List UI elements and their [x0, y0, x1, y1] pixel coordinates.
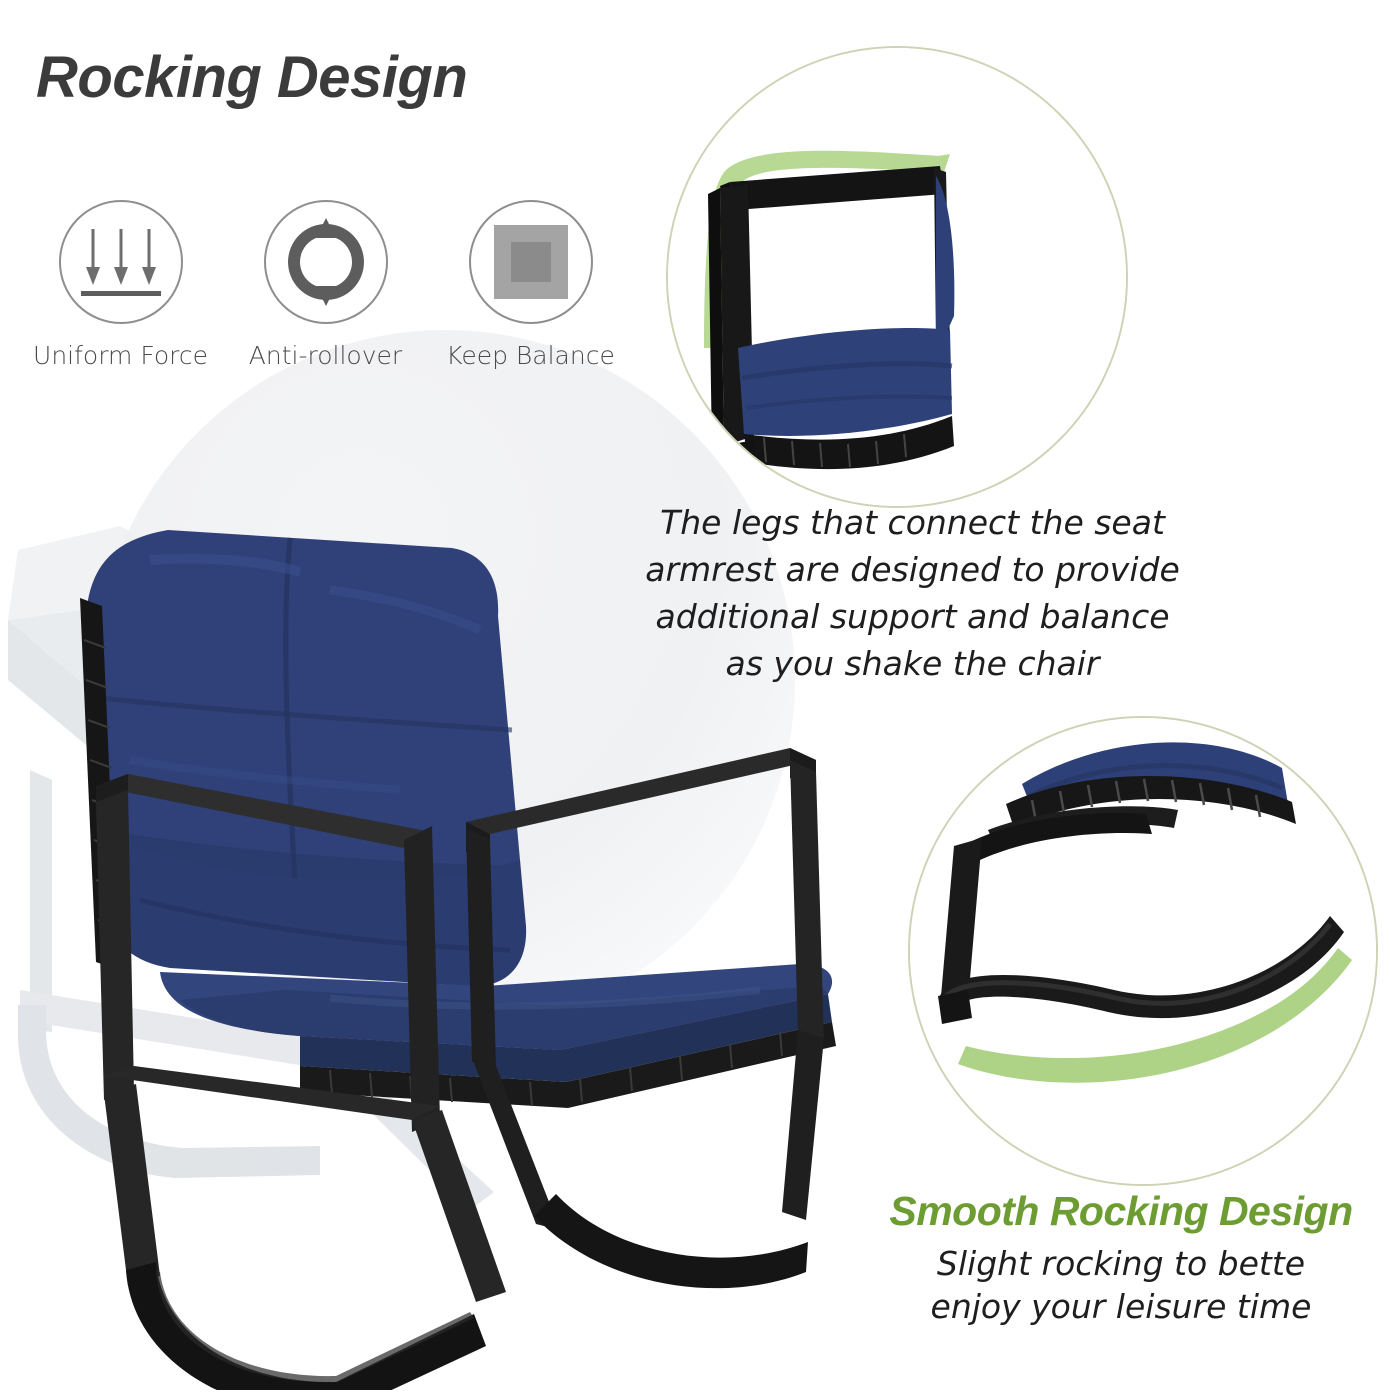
lead-text-line: as you shake the chair [630, 641, 1195, 688]
rocker-base-front [104, 1084, 506, 1390]
armrest-leg-detail-inset [666, 46, 1128, 508]
armrest-leg-detail-graphic [668, 48, 1126, 506]
lead-text-line: additional support and balance [630, 594, 1195, 641]
promo-subtext-line: Slight rocking to bette [846, 1243, 1396, 1286]
feature-icon-row: Uniform Force Anti-rollover [18, 200, 633, 370]
feature-label: Anti-rollover [249, 341, 402, 370]
promo-title: Smooth Rocking Design [846, 1188, 1396, 1235]
feature-uniform-force: Uniform Force [18, 200, 223, 370]
feature-keep-balance: Keep Balance [428, 200, 633, 370]
circular-rotation-arrows-icon [280, 216, 372, 308]
downward-arrows-on-bar-icon [76, 219, 166, 305]
page-title: Rocking Design [36, 44, 467, 111]
lead-text-line: armrest are designed to provide [630, 547, 1195, 594]
promo-subtext-line: enjoy your leisure time [846, 1286, 1396, 1329]
feature-label: Uniform Force [33, 341, 208, 370]
rocker-base-detail-inset [908, 716, 1378, 1186]
feature-circle [264, 200, 388, 324]
feature-circle [469, 200, 593, 324]
lead-text-line: The legs that connect the seat [630, 500, 1195, 547]
infographic-canvas: Rocking Design U [0, 0, 1396, 1396]
promo-block: Smooth Rocking Design Slight rocking to … [846, 1188, 1396, 1329]
feature-circle [59, 200, 183, 324]
nested-squares-icon [494, 225, 568, 299]
rocker-base-detail-graphic [910, 718, 1376, 1184]
lead-text-block: The legs that connect the seat armrest a… [630, 500, 1195, 687]
foot-corner [938, 990, 972, 1024]
promo-subtext: Slight rocking to bette enjoy your leisu… [846, 1243, 1396, 1329]
feature-anti-rollover: Anti-rollover [223, 200, 428, 370]
feature-label: Keep Balance [446, 341, 615, 370]
